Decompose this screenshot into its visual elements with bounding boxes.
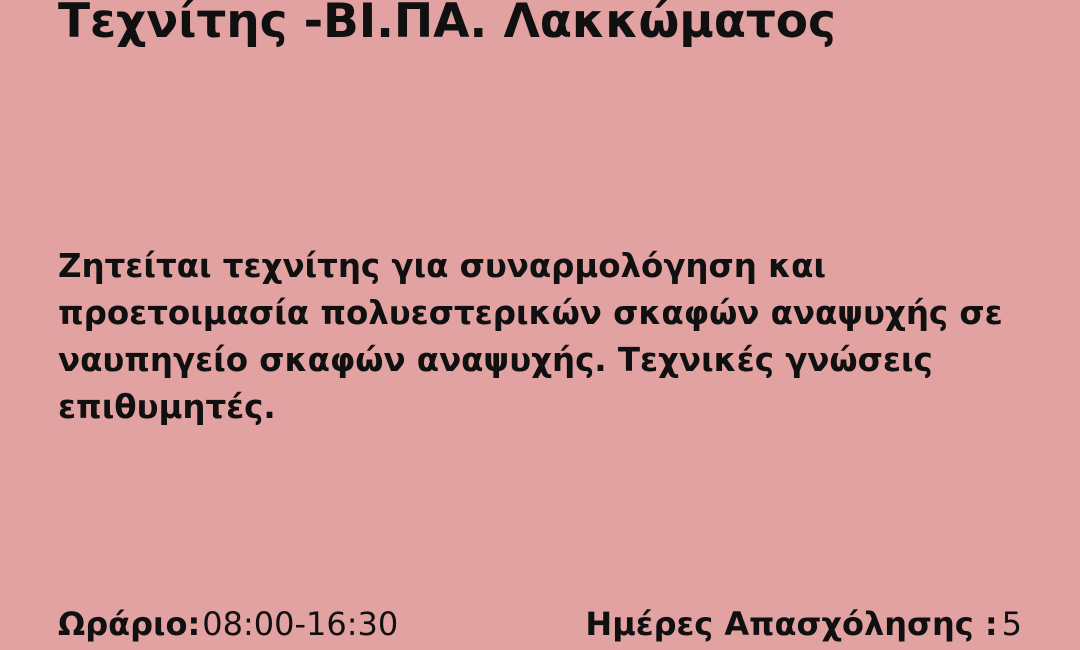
title-area: Τεχνίτης -ΒΙ.ΠΑ. Λακκώματος [58, 0, 1040, 50]
footer: Ωράριο:08:00-16:30 Ημέρες Απασχόλησης :5 [58, 604, 1022, 644]
working-hours-item: Ωράριο:08:00-16:30 [58, 604, 398, 644]
job-description-text: Ζητείται τεχνίτης για συναρμολόγηση και … [58, 243, 1038, 431]
working-hours-label: Ωράριο: [58, 605, 200, 643]
working-days-value: 5 [1002, 605, 1022, 643]
working-days-label: Ημέρες Απασχόλησης : [585, 605, 997, 643]
working-days-item: Ημέρες Απασχόλησης :5 [585, 604, 1022, 644]
body-area: Ζητείται τεχνίτης για συναρμολόγηση και … [58, 243, 1038, 431]
job-posting-card: Τεχνίτης -ΒΙ.ΠΑ. Λακκώματος Ζητείται τεχ… [0, 0, 1080, 650]
page-title: Τεχνίτης -ΒΙ.ΠΑ. Λακκώματος [58, 0, 1040, 50]
working-hours-value: 08:00-16:30 [202, 605, 398, 643]
